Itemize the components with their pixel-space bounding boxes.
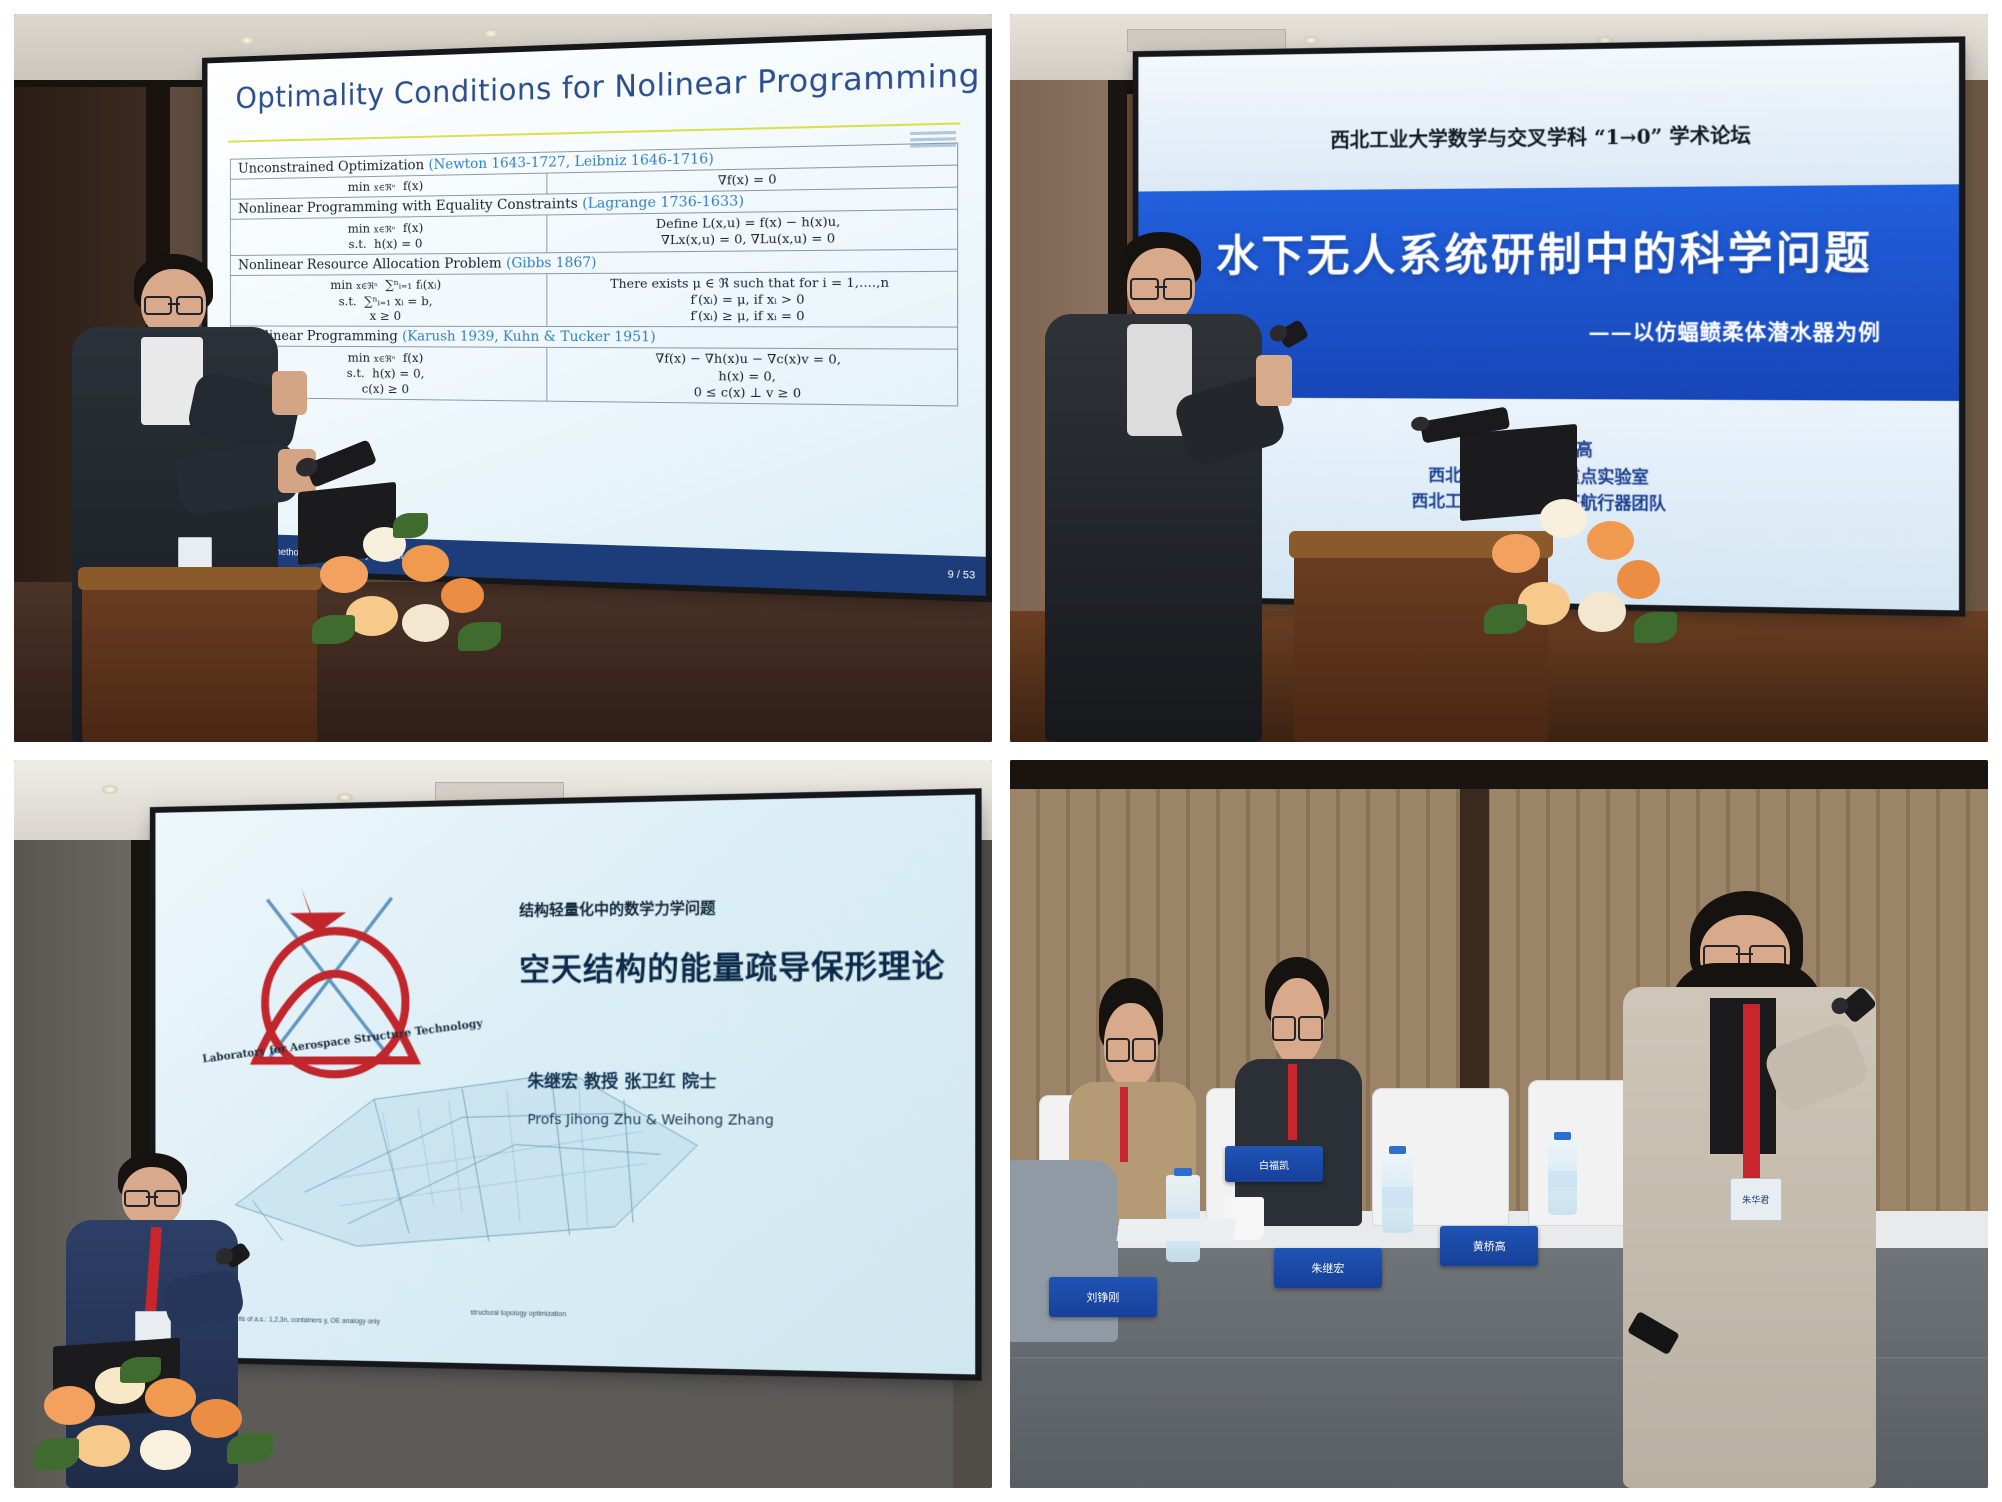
constraint: ∑ⁿᵢ₌₁ xᵢ = b,: [364, 293, 432, 308]
flower: [320, 556, 367, 592]
nameplate-text: 刘铮刚: [1086, 1289, 1119, 1305]
nameplate-text: 黄桥高: [1473, 1238, 1506, 1254]
row-header: Unconstrained Optimization: [238, 158, 424, 177]
bottle-cap: [1554, 1132, 1570, 1140]
glasses-icon: [144, 296, 203, 312]
slide-main-title: 空天结构的能量疏导保形理论: [519, 939, 945, 989]
bottle-cap: [1389, 1146, 1407, 1154]
objective: f(x): [403, 220, 423, 235]
constraint: x ≥ 0: [370, 309, 401, 324]
podium-1: [82, 567, 317, 742]
objective: ∑ⁿᵢ₌₁ fᵢ(xᵢ): [385, 277, 441, 292]
glasses-icon: [1106, 1038, 1157, 1058]
flower-bouquet-2: [1479, 473, 1694, 691]
rhs-line: ∇f(x) − ∇h(x)u − ∇c(x)v = 0,: [656, 351, 842, 367]
slide-aerospace-structures: Laboratory for Aerospace Structure Techn…: [156, 794, 975, 1373]
rhs-line: Define L(x,u) = f(x) − h(x)u,: [656, 214, 840, 232]
flower: [145, 1378, 196, 1417]
ceiling-downlight: [1597, 36, 1613, 45]
glasses-icon: [1130, 278, 1192, 295]
leaf: [34, 1438, 80, 1469]
slide-authors-cn: 朱继宏 教授 张卫红 院士: [527, 1067, 716, 1092]
speaker-4: 朱华君: [1597, 891, 1930, 1488]
constraint: c(x) ≥ 0: [362, 381, 409, 396]
row-header: Nonlinear Programming with Equality Cons…: [238, 197, 578, 218]
row-rhs: Define L(x,u) = f(x) − h(x)u, ∇Lx(x,u) =…: [547, 210, 958, 253]
photo-collage: Optimality Conditions for Nolinear Progr…: [0, 0, 2002, 1502]
podium-top: [78, 567, 322, 590]
flower-bouquet-1: [307, 509, 522, 691]
row-rhs: ∇f(x) − ∇h(x)u − ∇c(x)v = 0, h(x) = 0, 0…: [547, 348, 958, 406]
bottle-label: [1382, 1187, 1413, 1208]
slide-eyebrow: 结构轻量化中的数学力学问题: [519, 897, 715, 921]
flower: [44, 1386, 95, 1425]
badge-text: 朱华君: [1742, 1193, 1769, 1206]
flower: [1492, 534, 1539, 573]
glasses-icon: [1703, 945, 1786, 963]
flower: [1540, 499, 1587, 538]
seated-attendee-2: [1235, 957, 1362, 1226]
hand-right: [272, 371, 306, 415]
min-label: min: [348, 179, 370, 194]
water-bottle: [1382, 1153, 1413, 1233]
rhs-line: There exists μ ∈ ℜ such that for i = 1,.…: [610, 274, 889, 291]
flower-bouquet-3: [34, 1357, 288, 1488]
paper-sheet: [1116, 1219, 1236, 1241]
speaker-2: [1039, 232, 1332, 742]
lanyard: [1743, 1004, 1760, 1183]
ceiling-vent: [1127, 29, 1285, 53]
water-bottle: [1548, 1139, 1577, 1215]
slide-subtitle: ——以仿蝠鲼柔体潜水器为例: [1589, 316, 1881, 347]
ceiling-downlight: [1303, 36, 1319, 45]
panel-top-right: 西北工业大学数学与交叉学科 “1→0” 学术论坛 水下无人系统研制中的科学问题 …: [1010, 14, 1988, 742]
leaf: [1484, 604, 1527, 635]
conference-room-4: 刘铮刚 朱继宏 黄桥高 白福凯: [1010, 760, 1988, 1488]
ceiling: [1010, 760, 1988, 789]
rhs-line: 0 ≤ c(x) ⊥ v ≥ 0: [694, 384, 801, 400]
flower: [1587, 521, 1634, 560]
conference-room-3: Laboratory for Aerospace Structure Techn…: [14, 760, 992, 1488]
panel-top-left: Optimality Conditions for Nolinear Progr…: [14, 14, 992, 742]
conference-room-1: Optimality Conditions for Nolinear Progr…: [14, 14, 992, 742]
leaf: [312, 615, 355, 644]
row-header-year: (Karush 1939, Kuhn & Tucker 1951): [402, 330, 656, 347]
nameplate: 白福凯: [1225, 1146, 1323, 1182]
slide-authors-en: Profs Jihong Zhu & Weihong Zhang: [527, 1112, 774, 1129]
row-lhs: min x∈ℜⁿ f(x) s.t. h(x) = 0: [231, 216, 548, 256]
flower: [402, 604, 449, 642]
conference-room-2: 西北工业大学数学与交叉学科 “1→0” 学术论坛 水下无人系统研制中的科学问题 …: [1010, 14, 1988, 742]
ceiling-downlight: [483, 29, 499, 38]
leaf: [1634, 612, 1677, 643]
lanyard: [1288, 1064, 1297, 1139]
min-label: min: [348, 221, 370, 236]
flower: [191, 1399, 242, 1438]
domain-label: x∈ℜⁿ: [374, 184, 396, 194]
slide-number: 9 / 53: [948, 570, 976, 583]
nameplate: 刘铮刚: [1049, 1277, 1157, 1317]
slide-footnote-mid: structural topology optimization: [471, 1308, 567, 1320]
rhs-line: ∇Lx(x,u) = 0, ∇Lu(x,u) = 0: [661, 231, 835, 248]
speaker-name-badge[interactable]: 朱华君: [1730, 1178, 1782, 1222]
leaf: [458, 622, 501, 651]
flower: [441, 578, 484, 613]
flower: [1578, 591, 1625, 632]
bottle-cap: [1174, 1168, 1193, 1176]
rhs-line: f′(xᵢ) ≥ μ, if xᵢ = 0: [691, 308, 805, 323]
constraint: h(x) = 0: [374, 236, 422, 251]
slide-title: Optimality Conditions for Nolinear Progr…: [236, 58, 981, 116]
bottle-label: [1548, 1171, 1577, 1191]
nameplate-text: 朱继宏: [1311, 1260, 1344, 1276]
row-header-year: (Lagrange 1736-1633): [582, 194, 744, 213]
nameplate: 黄桥高: [1440, 1226, 1538, 1266]
panel-bottom-left: Laboratory for Aerospace Structure Techn…: [14, 760, 992, 1488]
ceiling-downlight: [337, 793, 353, 802]
glasses-icon: [124, 1190, 180, 1203]
leaf: [120, 1357, 161, 1383]
st-label: s.t.: [349, 237, 367, 252]
rhs-line: f′(xᵢ) = μ, if xᵢ > 0: [691, 292, 805, 308]
lanyard: [1120, 1087, 1129, 1161]
leaf: [393, 513, 427, 538]
nameplate-text: 白福凯: [1259, 1157, 1289, 1172]
objective: f(x): [403, 178, 423, 193]
flower: [402, 545, 449, 581]
domain-label: x∈ℜⁿ: [374, 355, 396, 365]
projection-screen-3: Laboratory for Aerospace Structure Techn…: [156, 794, 975, 1373]
objective: f(x): [403, 351, 423, 366]
row-header-year: (Gibbs 1867): [506, 255, 596, 272]
flower: [1617, 560, 1660, 599]
ceiling-downlight: [239, 36, 255, 45]
rhs-line: h(x) = 0,: [719, 368, 776, 384]
microphone-head: [1267, 322, 1291, 345]
glasses-icon: [1272, 1016, 1323, 1038]
flower: [140, 1430, 191, 1469]
handheld-microphone: [1277, 319, 1310, 350]
nameplate: 朱继宏: [1274, 1248, 1382, 1288]
leaf: [227, 1433, 273, 1464]
panel-bottom-right: 刘铮刚 朱继宏 黄桥高 白福凯: [1010, 760, 1988, 1488]
domain-label: x∈ℜⁿ: [374, 225, 396, 235]
title-underline: [229, 123, 961, 143]
flower: [74, 1425, 130, 1467]
row-rhs: There exists μ ∈ ℜ such that for i = 1,.…: [547, 271, 958, 328]
hand-holding-mic: [1256, 355, 1291, 406]
constraint: h(x) = 0,: [372, 366, 424, 381]
